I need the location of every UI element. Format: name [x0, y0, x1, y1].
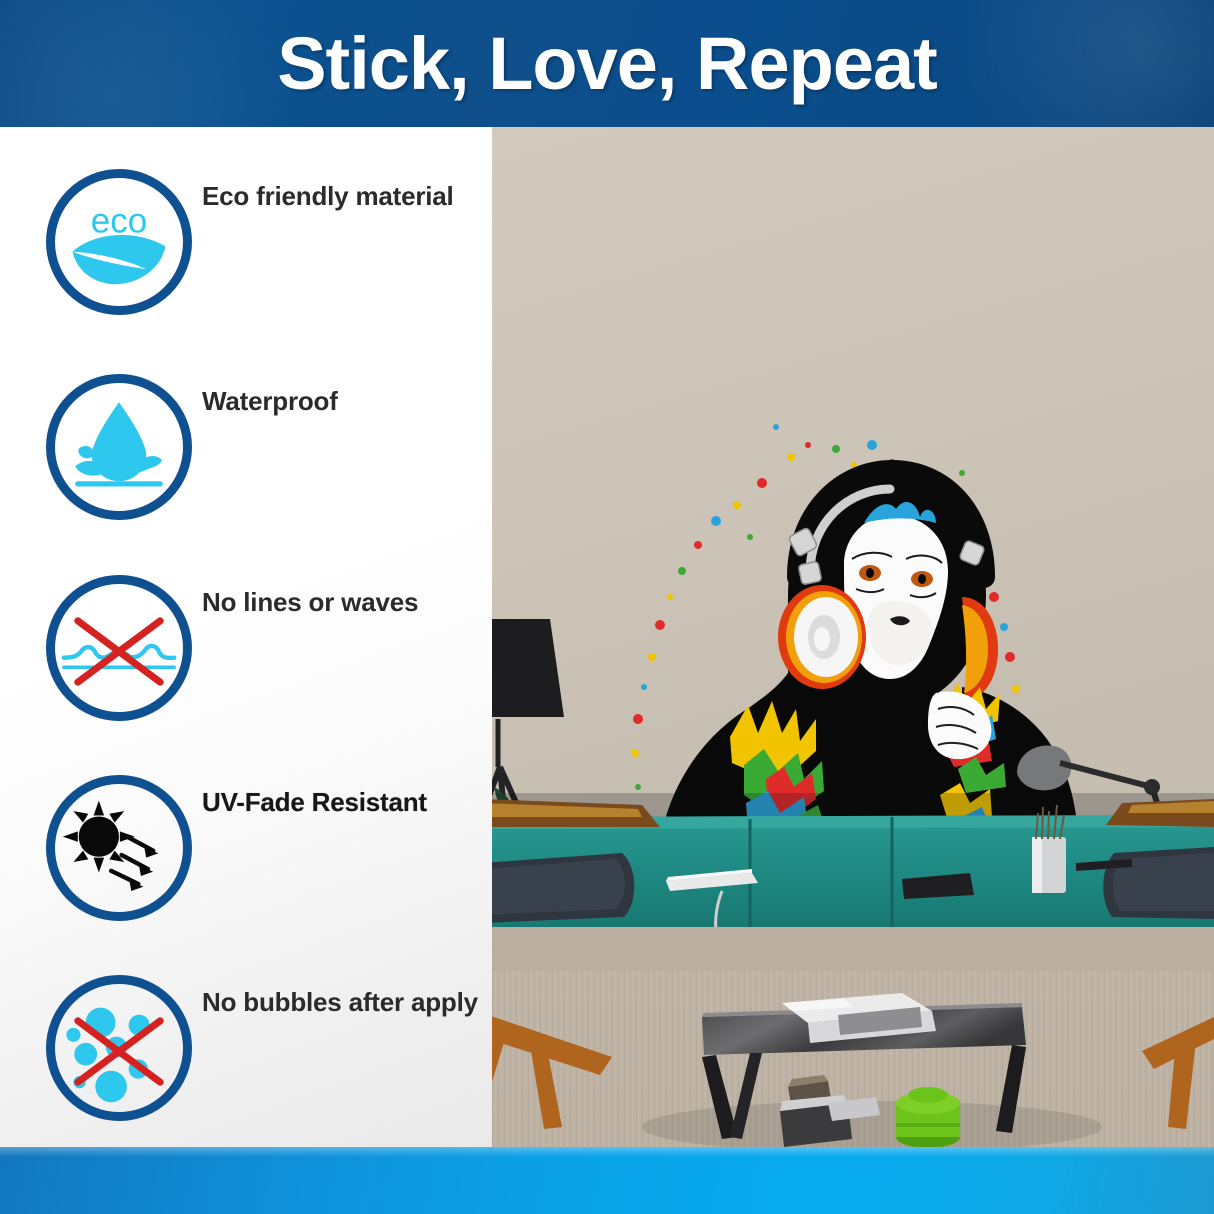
feature-item-waterproof[interactable]: Waterproof: [0, 364, 492, 564]
feature-label-eco: Eco friendly material: [202, 181, 454, 212]
features-panel: eco Eco friendly material Waterproof: [0, 127, 492, 1147]
feature-label-no-bubbles: No bubbles after apply: [202, 987, 478, 1018]
feature-label-waterproof: Waterproof: [202, 386, 338, 417]
footer-sheen: [0, 1147, 1214, 1157]
feature-item-uv-fade[interactable]: UV-Fade Resistant: [0, 765, 492, 965]
no-bubbles-icon: [46, 975, 192, 1121]
feature-item-no-waves[interactable]: No lines or waves: [0, 565, 492, 765]
header-banner: Stick, Love, Repeat: [0, 0, 1214, 127]
no-waves-icon: [46, 575, 192, 721]
room-photo: [492, 127, 1214, 1164]
feature-label-no-waves: No lines or waves: [202, 587, 418, 618]
water-drop-icon: [46, 374, 192, 520]
footer-banner: [0, 1147, 1214, 1214]
eco-leaf-icon: eco: [46, 169, 192, 315]
sun-uv-icon: [46, 775, 192, 921]
green-canister: [896, 1087, 960, 1148]
feature-item-no-bubbles[interactable]: No bubbles after apply: [0, 965, 492, 1147]
feature-item-eco[interactable]: eco Eco friendly material: [0, 159, 492, 359]
eco-badge-text: eco: [91, 201, 148, 240]
page-title: Stick, Love, Repeat: [0, 27, 1214, 101]
feature-label-uv-fade: UV-Fade Resistant: [202, 787, 427, 818]
